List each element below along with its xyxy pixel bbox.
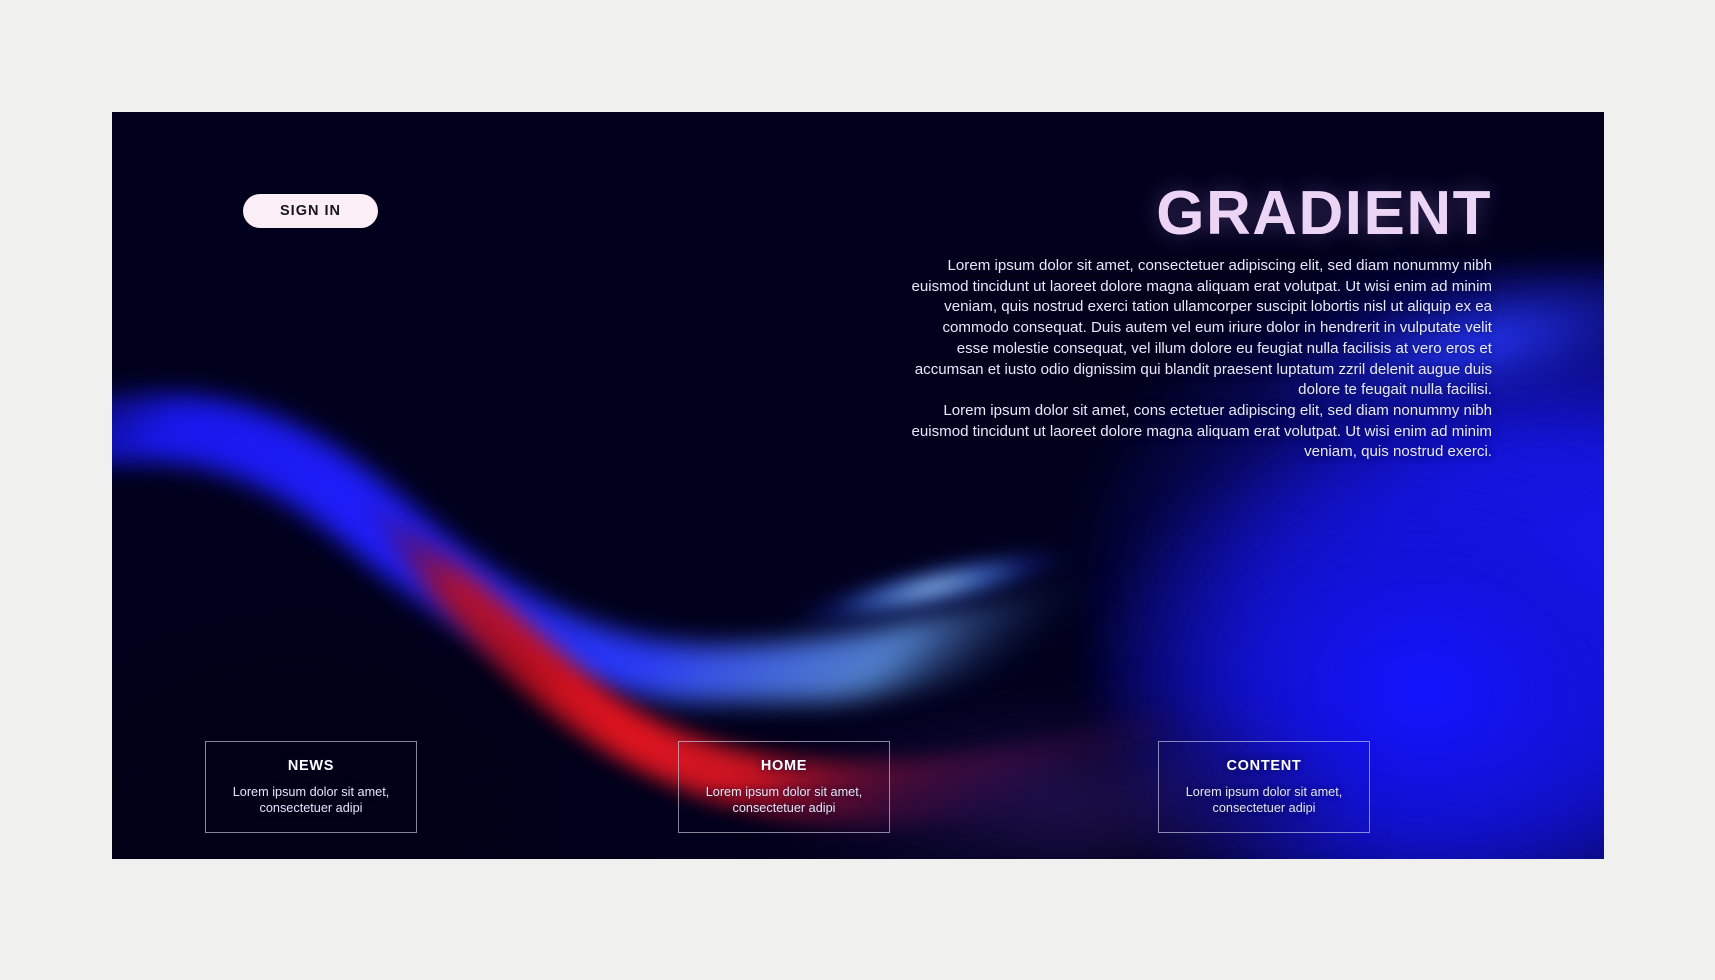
sign-in-button[interactable]: SIGN IN (243, 194, 378, 228)
hero-paragraph-1: Lorem ipsum dolor sit amet, consectetuer… (910, 256, 1492, 401)
hero-paragraph-2: Lorem ipsum dolor sit amet, cons ectetue… (910, 401, 1492, 463)
card-news-body: Lorem ipsum dolor sit amet, consectetuer… (223, 784, 399, 817)
card-news-title: NEWS (288, 758, 334, 774)
card-content[interactable]: CONTENT Lorem ipsum dolor sit amet, cons… (1158, 741, 1370, 833)
card-content-body: Lorem ipsum dolor sit amet, consectetuer… (1176, 784, 1352, 817)
card-home[interactable]: HOME Lorem ipsum dolor sit amet, consect… (678, 741, 890, 833)
card-news[interactable]: NEWS Lorem ipsum dolor sit amet, consect… (205, 741, 417, 833)
card-home-title: HOME (761, 758, 807, 774)
page-title: GRADIENT (1156, 183, 1492, 245)
card-home-body: Lorem ipsum dolor sit amet, consectetuer… (696, 784, 872, 817)
banner-content: SIGN IN GRADIENT Lorem ipsum dolor sit a… (112, 112, 1604, 859)
hero-banner: SIGN IN GRADIENT Lorem ipsum dolor sit a… (112, 112, 1604, 859)
card-content-title: CONTENT (1227, 758, 1302, 774)
hero-description: Lorem ipsum dolor sit amet, consectetuer… (910, 256, 1492, 463)
page-canvas: SIGN IN GRADIENT Lorem ipsum dolor sit a… (0, 0, 1715, 980)
